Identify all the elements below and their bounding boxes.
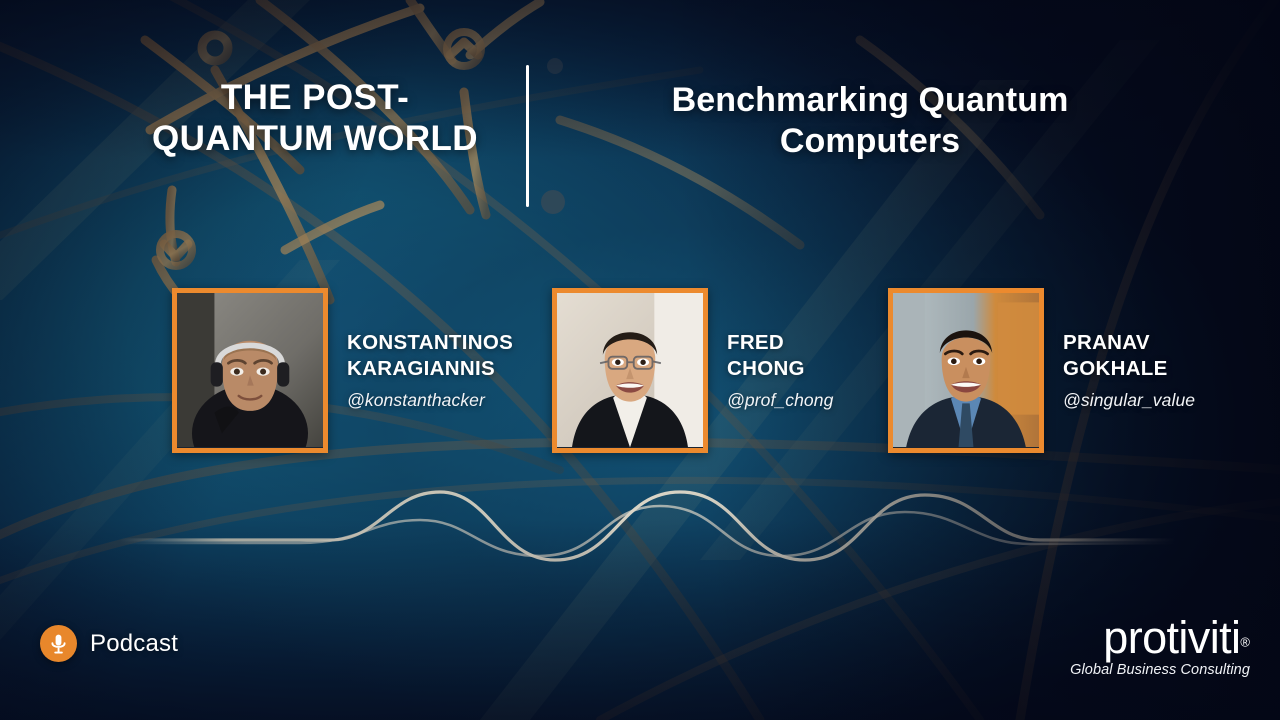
brand-name: protiviti	[1103, 615, 1240, 660]
brand-tagline: Global Business Consulting	[1070, 662, 1250, 678]
speaker-name: KONSTANTINOS KARAGIANNIS	[347, 330, 513, 382]
speaker-handle: @konstanthacker	[347, 390, 513, 411]
speaker-name: FRED CHONG	[727, 330, 833, 382]
speaker-card: KONSTANTINOS KARAGIANNIS @konstanthacker	[172, 288, 513, 453]
speaker-card: PRANAV GOKHALE @singular_value	[888, 288, 1195, 453]
speaker-meta: FRED CHONG @prof_chong	[727, 330, 833, 412]
podcast-badge: Podcast	[40, 625, 178, 662]
speaker-meta: PRANAV GOKHALE @singular_value	[1063, 330, 1195, 412]
speaker-name: PRANAV GOKHALE	[1063, 330, 1195, 382]
speaker-photo	[177, 293, 323, 447]
microphone-icon	[40, 625, 77, 662]
speaker-photo	[893, 293, 1039, 447]
registered-mark: ®	[1240, 635, 1250, 650]
speaker-photo-frame	[172, 288, 328, 453]
speaker-card: FRED CHONG @prof_chong	[552, 288, 833, 453]
series-title: THE POST-QUANTUM WORLD	[150, 78, 480, 160]
speaker-list: KONSTANTINOS KARAGIANNIS @konstanthacker	[0, 288, 1280, 468]
speaker-handle: @prof_chong	[727, 390, 833, 411]
episode-title: Benchmarking Quantum Computers	[600, 80, 1140, 163]
title-divider	[526, 65, 529, 207]
speaker-photo-frame	[888, 288, 1044, 453]
speaker-handle: @singular_value	[1063, 390, 1195, 411]
brand-logo: protiviti® Global Business Consulting	[1070, 615, 1250, 678]
speaker-meta: KONSTANTINOS KARAGIANNIS @konstanthacker	[347, 330, 513, 412]
speaker-photo-frame	[552, 288, 708, 453]
podcast-label: Podcast	[90, 630, 178, 658]
slide-canvas: THE POST-QUANTUM WORLD Benchmarking Quan…	[0, 0, 1280, 720]
speaker-photo	[557, 293, 703, 447]
